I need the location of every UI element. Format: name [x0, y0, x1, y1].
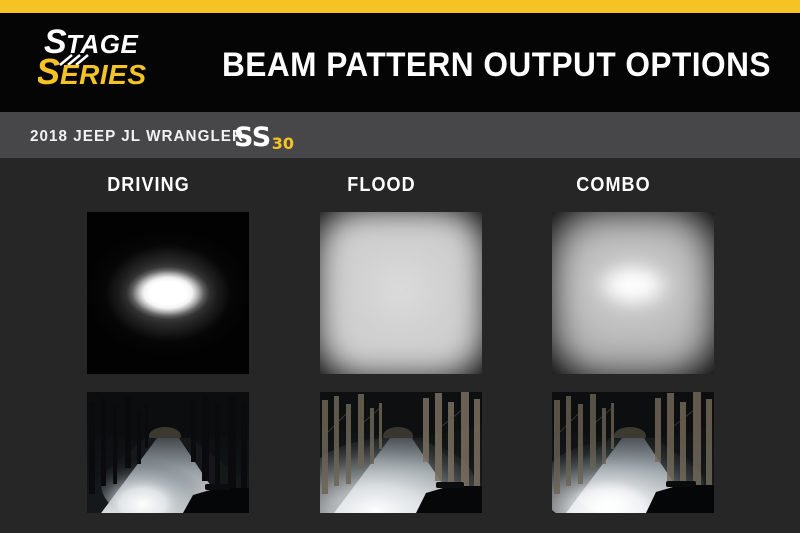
model-number: 30 — [272, 134, 294, 153]
vehicle-label: 2018 JEEP JL WRANGLER — [30, 128, 244, 146]
road-photo-driving — [87, 392, 249, 513]
beam-pattern-combo — [552, 212, 714, 374]
road-photo-combo — [552, 392, 714, 513]
column-header-flood: FLOOD — [277, 174, 487, 197]
road-photo-flood — [320, 392, 482, 513]
top-accent-stripe — [0, 0, 800, 13]
page-title: BEAM PATTERN OUTPUT OPTIONS — [222, 48, 771, 82]
beam-gradient-driving — [87, 212, 249, 374]
comparison-grid: DRIVING — [0, 158, 800, 533]
beam-gradient-flood — [320, 212, 482, 374]
stage-series-logo: S TAGE S ERIES — [38, 22, 188, 94]
beam-pattern-flood — [320, 212, 482, 374]
model-prefix: SS — [234, 122, 271, 153]
model-badge: SS30 — [234, 122, 293, 153]
svg-text:ERIES: ERIES — [60, 59, 147, 90]
beam-gradient-combo — [552, 212, 714, 374]
beam-pattern-driving — [87, 212, 249, 374]
svg-text:S: S — [38, 51, 60, 92]
svg-text:TAGE: TAGE — [66, 29, 138, 59]
column-header-combo: COMBO — [509, 174, 719, 197]
beam-pattern-infographic: S TAGE S ERIES BEAM PATTERN OUTPUT OPTIO… — [0, 0, 800, 533]
column-header-driving: DRIVING — [44, 174, 254, 197]
